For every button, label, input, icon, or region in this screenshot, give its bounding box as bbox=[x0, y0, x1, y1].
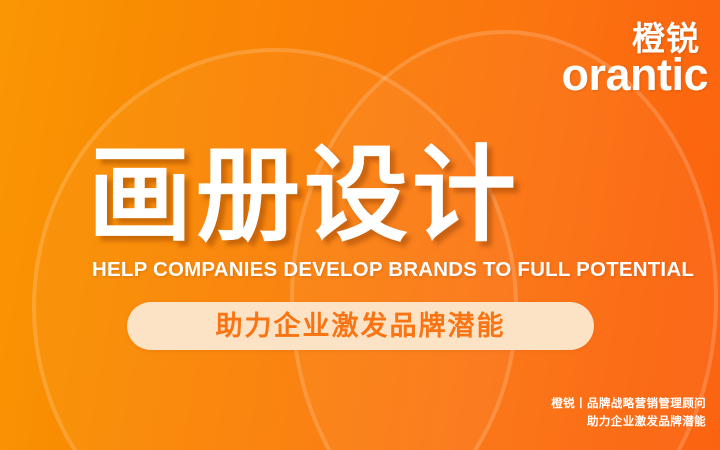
english-tagline: HELP COMPANIES DEVELOP BRANDS TO FULL PO… bbox=[92, 258, 632, 282]
promo-poster: 橙锐 orantic 画册设计 HELP COMPANIES DEVELOP B… bbox=[0, 0, 720, 450]
slogan-badge-label: 助力企业激发品牌潜能 bbox=[216, 313, 506, 340]
logo-latin-name: orantic bbox=[561, 52, 708, 97]
page-title: 画册设计 bbox=[88, 142, 520, 251]
slogan-badge: 助力企业激发品牌潜能 bbox=[127, 302, 594, 350]
footer-credits: 橙锐丨品牌战略营销管理顾问 助力企业激发品牌潜能 bbox=[551, 396, 706, 432]
footer-slogan-line: 助力企业激发品牌潜能 bbox=[551, 414, 706, 432]
brand-logo: 橙锐 orantic bbox=[561, 22, 708, 97]
footer-company-line: 橙锐丨品牌战略营销管理顾问 bbox=[551, 396, 706, 414]
